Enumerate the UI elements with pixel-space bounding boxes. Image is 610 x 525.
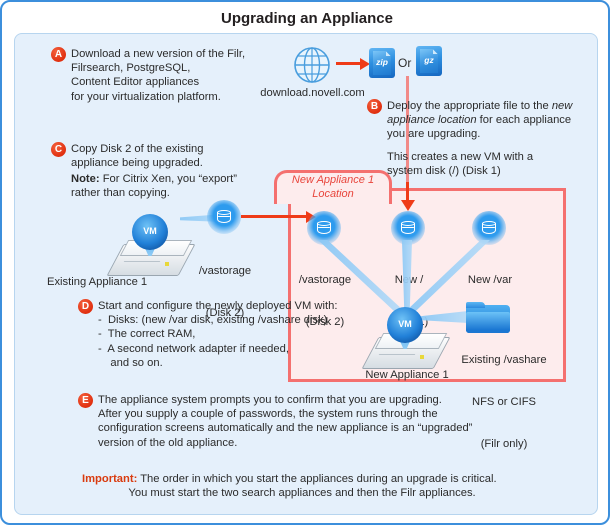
step-a-line4: for your virtualization platform.: [71, 91, 221, 103]
page-title: Upgrading an Appliance: [2, 10, 610, 27]
step-marker-a: A: [51, 47, 66, 62]
step-d-bullet0: - Disks: (new /var disk, existing /vasha…: [98, 314, 327, 326]
step-marker-d: D: [78, 299, 93, 314]
step-b-para2-line1: This creates a new VM with a: [387, 151, 533, 163]
vm-sphere: VM: [387, 307, 423, 343]
disk-cyl-body: [482, 223, 496, 234]
important-line2: You must start the two search appliances…: [128, 487, 475, 499]
zip-icon-label: zip: [369, 57, 395, 67]
new-appliance-location-label: New Appliance 1 Location: [274, 174, 392, 201]
disk-cylinder: [217, 210, 231, 225]
disk-cyl-body: [401, 223, 415, 234]
existing-disk-line1: /vastorage: [182, 264, 268, 278]
vm-led: [165, 262, 169, 266]
vm-sphere-label: VM: [387, 319, 423, 329]
step-e-text: The appliance system prompts you to conf…: [98, 393, 472, 450]
new-var-disk-icon: [472, 211, 506, 245]
step-b-para2-line2: system disk (/) (Disk 1): [387, 165, 501, 177]
disk-cylinder: [317, 221, 331, 236]
step-e-line3: configuration screens automatically and …: [98, 422, 472, 434]
note-text: For Citrix Xen, you “export”: [100, 173, 237, 185]
arrow-globe-to-zip-line: [336, 62, 362, 65]
gz-file-icon: gz: [416, 46, 442, 76]
important-line1: The order in which you start the applian…: [140, 473, 496, 485]
diagram-canvas: Upgrading an Appliance New Appliance 1 L…: [0, 0, 610, 525]
step-a-line2: Filrsearch, PostgreSQL,: [71, 62, 190, 74]
disk-cylinder: [482, 221, 496, 236]
arrow-copy-disk-line: [241, 215, 308, 218]
globe-icon: [293, 46, 331, 84]
step-c-note: Note: For Citrix Xen, you “export” rathe…: [71, 172, 237, 200]
step-marker-e: E: [78, 393, 93, 408]
region-label-line2: Location: [274, 188, 392, 202]
step-a-line1: Download a new version of the Filr,: [71, 48, 245, 60]
download-site-label: download.novell.com: [260, 86, 365, 100]
step-e-line2: After you supply a couple of passwords, …: [98, 408, 438, 420]
step-b-line2-em: appliance location: [387, 114, 477, 126]
step-e-line1: The appliance system prompts you to conf…: [98, 394, 442, 406]
important-note: Important: The order in which you start …: [82, 472, 497, 500]
step-b-text: Deploy the appropriate file to the new a…: [387, 99, 572, 142]
gz-icon-label: gz: [416, 55, 442, 65]
note-label: Note:: [71, 173, 100, 185]
new-appliance-vm-icon: VM: [367, 307, 453, 371]
new-disk-2-line1: New /var: [447, 273, 533, 287]
new-disk-0-line1: /vastorage: [282, 273, 368, 287]
vm-sphere-label: VM: [132, 226, 168, 236]
step-b-line2-rest: for each appliance: [477, 114, 572, 126]
disk-cyl-mid: [218, 216, 231, 217]
step-a-line3: Content Editor appliances: [71, 76, 199, 88]
disk-cyl-body: [217, 212, 231, 223]
step-b-para2: This creates a new VM with a system disk…: [387, 150, 533, 178]
disk-cylinder: [401, 221, 415, 236]
existing-appliance-label: Existing Appliance 1: [47, 275, 187, 289]
zip-file-icon: zip: [369, 48, 395, 78]
folder-tab: [466, 302, 485, 308]
important-label: Important:: [82, 473, 137, 485]
disk-cyl-mid: [318, 227, 331, 228]
step-b-line1-em: new: [552, 100, 573, 112]
disk-cyl-mid: [402, 227, 415, 228]
vm-detail-line: [124, 261, 161, 262]
important-indent: [82, 487, 128, 499]
step-c-line2: appliance being upgraded.: [71, 157, 203, 169]
step-c-line1: Copy Disk 2 of the existing: [71, 143, 203, 155]
vashare-line1: Existing /vashare: [443, 353, 565, 367]
vm-detail-line: [379, 354, 416, 355]
step-e-line4: version of the old appliance.: [98, 437, 237, 449]
disk-cyl-body: [317, 223, 331, 234]
new-root-disk-icon: [391, 211, 425, 245]
region-label-line1: New Appliance 1: [274, 174, 392, 188]
step-b-line3: you are upgrading.: [387, 128, 480, 140]
step-d-line1: Start and configure the newly deployed V…: [98, 300, 337, 312]
step-marker-b: B: [367, 99, 382, 114]
vm-led: [420, 355, 424, 359]
or-label: Or: [398, 56, 411, 70]
arrow-deploy-down-head: [401, 200, 415, 211]
vm-sphere: VM: [132, 214, 168, 250]
step-b-line1-lead: Deploy the appropriate file to the: [387, 100, 552, 112]
note-line2: rather than copying.: [71, 187, 170, 199]
step-marker-c: C: [51, 142, 66, 157]
disk-cyl-mid: [483, 227, 496, 228]
step-d-text: Start and configure the newly deployed V…: [98, 299, 337, 370]
step-d-bullet3: and so on.: [98, 357, 163, 369]
step-a-text: Download a new version of the Filr, Filr…: [71, 47, 245, 104]
step-d-bullet1: - The correct RAM,: [98, 328, 195, 340]
existing-vastorage-disk-icon: [207, 200, 241, 234]
step-c-text: Copy Disk 2 of the existing appliance be…: [71, 142, 203, 170]
step-d-bullet2: - A second network adapter if needed,: [98, 343, 289, 355]
new-vastorage-disk-icon: [307, 211, 341, 245]
